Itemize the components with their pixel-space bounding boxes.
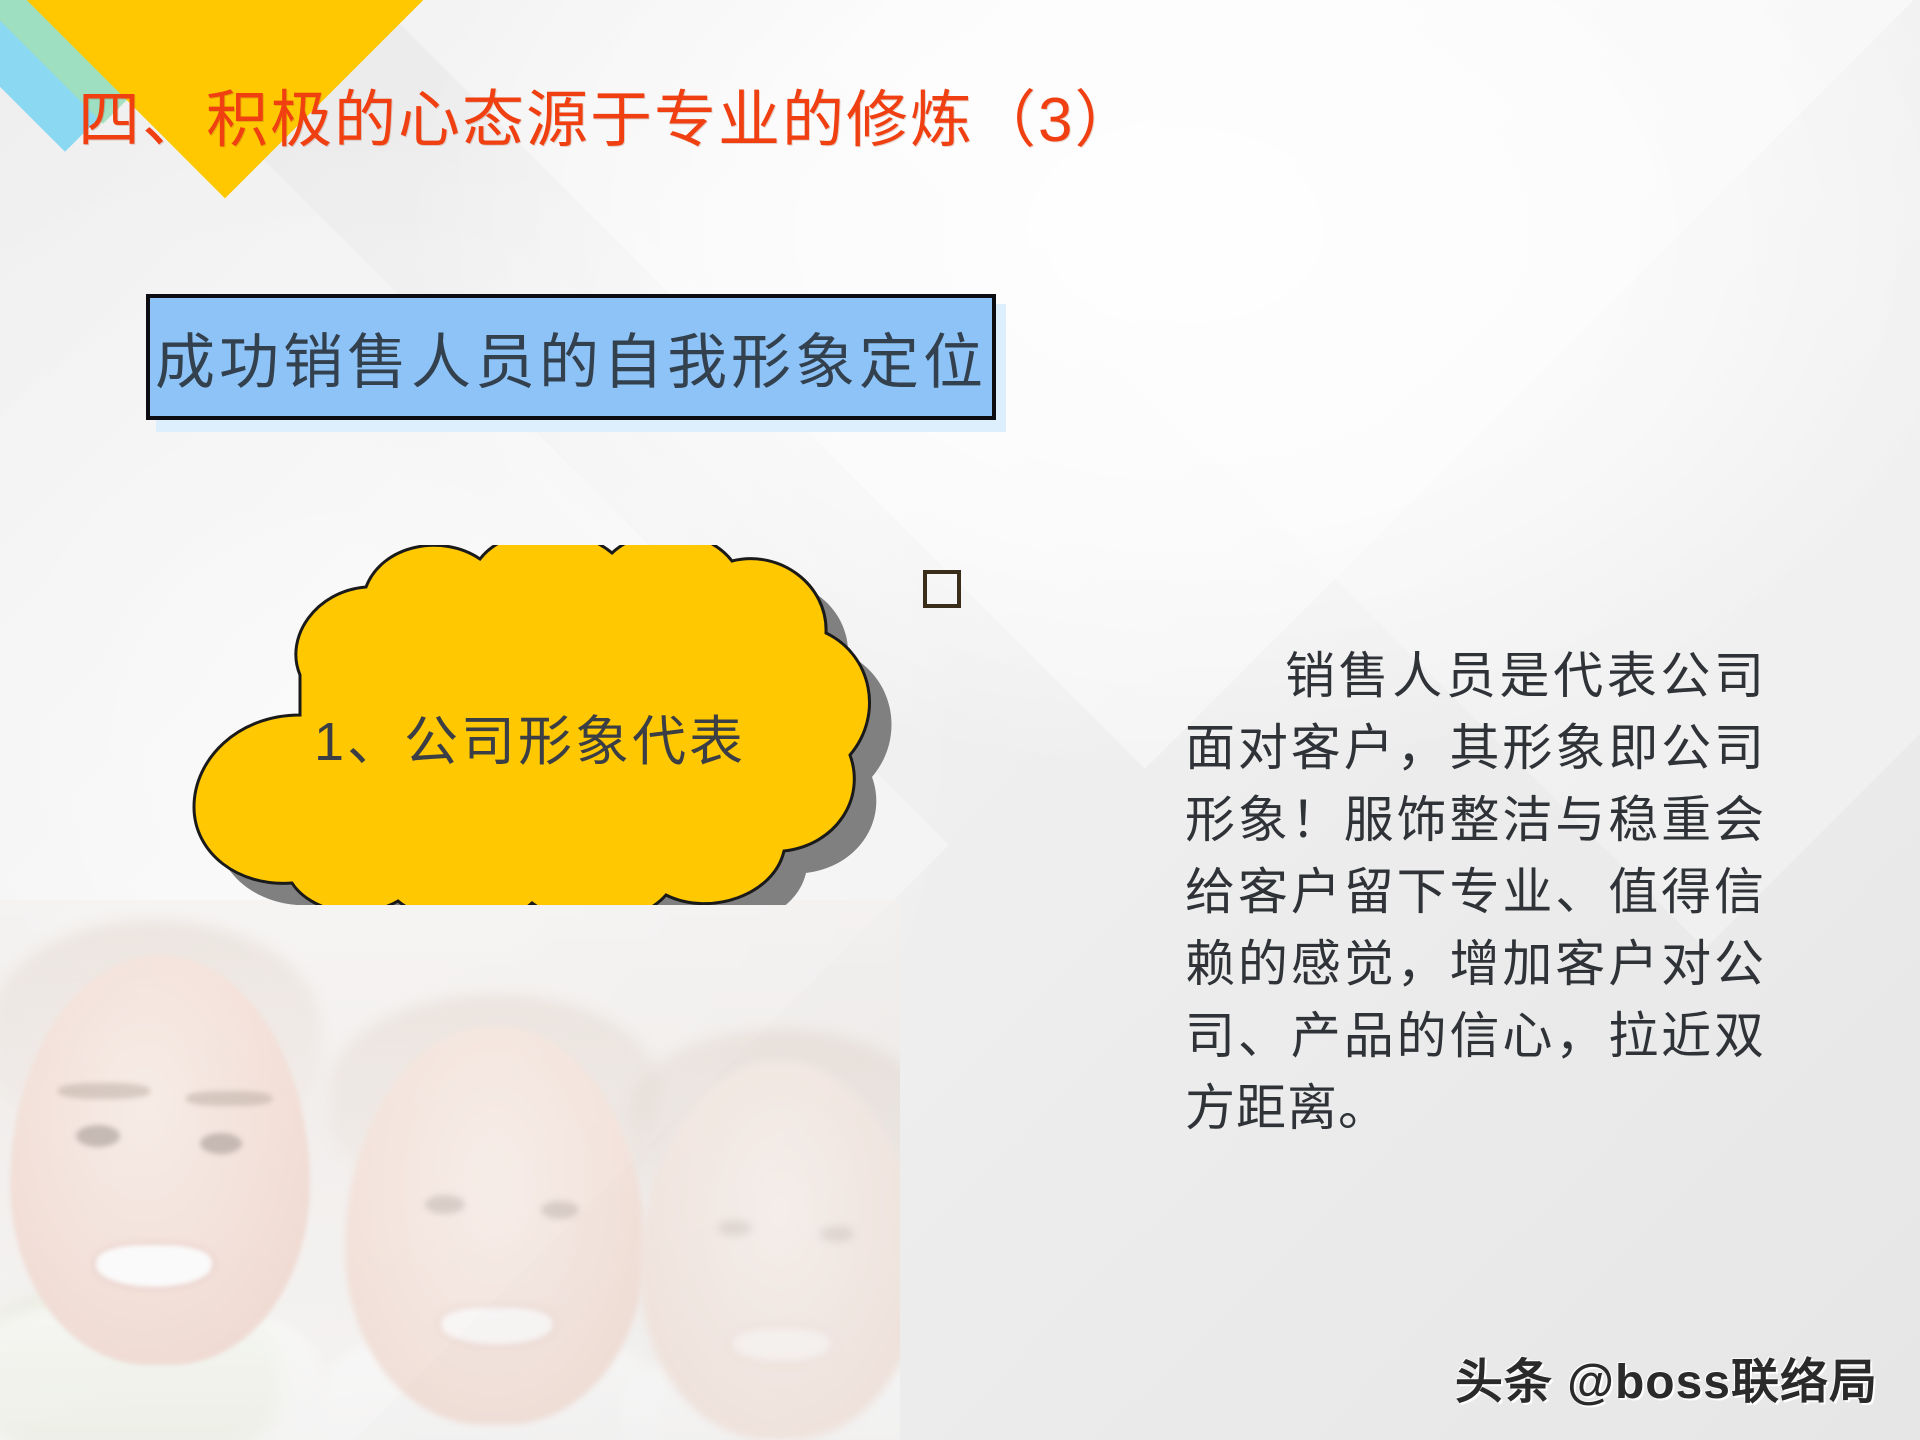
headline-box: 成功销售人员的自我形象定位 [146,294,996,420]
slide-title: 四、积极的心态源于专业的修炼（3） [78,88,1138,155]
slide-canvas: 四、积极的心态源于专业的修炼（3） 成功销售人员的自我形象定位 1、公司形象代表… [0,0,1920,1440]
cloud-shape-svg [150,545,950,905]
cloud-callout: 1、公司形象代表 [150,545,950,905]
body-paragraph: 销售人员是代表公司面对客户，其形象即公司形象！服饰整洁与稳重会给客户留下专业、值… [1185,640,1765,1144]
face-person-3 [640,1060,900,1440]
cloud-resize-handle[interactable] [923,570,961,608]
cloud-body [194,545,870,905]
face-person-2 [345,1025,645,1425]
watermark-label: 头条 @boss联络局 [1455,1342,1878,1412]
face-person-1 [10,955,310,1365]
background-photo-people [0,900,900,1440]
headline-box-label: 成功销售人员的自我形象定位 [155,314,987,401]
